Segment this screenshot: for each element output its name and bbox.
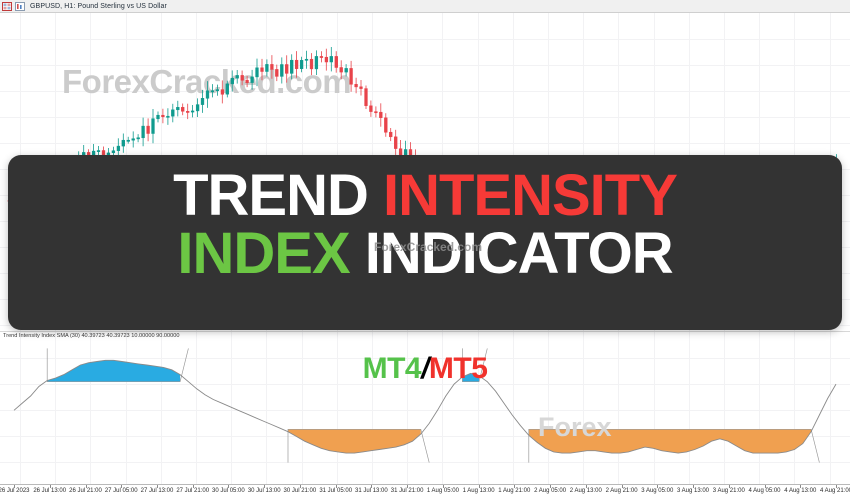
badge-separator: /	[421, 352, 429, 385]
x-axis-label: 27 Jul 13:00	[141, 488, 174, 494]
x-axis: 26 Jul 202326 Jul 13:0026 Jul 21:0027 Ju…	[0, 484, 850, 500]
grid-icon[interactable]	[2, 2, 12, 11]
x-axis-label: 31 Jul 21:00	[391, 488, 424, 494]
x-axis-label: 2 Aug 05:00	[534, 488, 566, 494]
screenshot-root: GBPUSD, H1: Pound Sterling vs US Dollar …	[0, 0, 850, 500]
x-axis-label: 26 Jul 2023	[0, 488, 30, 494]
badge-mt5: MT5	[429, 352, 488, 385]
x-axis-label: 27 Jul 21:00	[176, 488, 209, 494]
x-axis-label: 3 Aug 05:00	[641, 488, 673, 494]
x-axis-label: 1 Aug 21:00	[498, 488, 530, 494]
banner-word-index: INDEX	[177, 221, 364, 286]
banner-title-line-1: TREND INTENSITY	[8, 167, 842, 225]
x-axis-label: 1 Aug 13:00	[463, 488, 495, 494]
forex-watermark: Forex	[538, 412, 612, 443]
platform-badges: MT4/MT5	[0, 352, 850, 386]
x-axis-label: 30 Jul 21:00	[284, 488, 317, 494]
x-axis-label: 4 Aug 13:00	[784, 488, 816, 494]
x-axis-label: 31 Jul 13:00	[355, 488, 388, 494]
badge-mt4: MT4	[363, 352, 422, 385]
banner-word-intensity: INTENSITY	[383, 163, 677, 228]
x-axis-label: 3 Aug 13:00	[677, 488, 709, 494]
x-axis-label: 31 Jul 05:00	[319, 488, 352, 494]
x-axis-label: 26 Jul 21:00	[69, 488, 102, 494]
x-axis-label: 3 Aug 21:00	[713, 488, 745, 494]
window-titlebar: GBPUSD, H1: Pound Sterling vs US Dollar	[0, 0, 850, 13]
x-axis-label: 4 Aug 05:00	[748, 488, 780, 494]
x-axis-label: 4 Aug 21:00	[820, 488, 850, 494]
indicator-label: Trend Intensity Index SMA (30) 40.39723 …	[3, 333, 179, 339]
symbol-title: GBPUSD, H1: Pound Sterling vs US Dollar	[30, 3, 167, 10]
banner-word-trend: TREND	[173, 163, 383, 228]
brand-watermark-small: ForexCracked.com	[374, 240, 482, 254]
x-axis-label: 30 Jul 05:00	[212, 488, 245, 494]
x-axis-label: 2 Aug 13:00	[570, 488, 602, 494]
x-axis-label: 27 Jul 05:00	[105, 488, 138, 494]
banner-title-line-2: INDEX INDICATOR	[8, 225, 842, 283]
x-axis-label: 30 Jul 13:00	[248, 488, 281, 494]
x-axis-label: 26 Jul 13:00	[33, 488, 66, 494]
x-axis-label: 2 Aug 21:00	[606, 488, 638, 494]
x-axis-label: 1 Aug 05:00	[427, 488, 459, 494]
chart-icon[interactable]	[15, 2, 25, 11]
